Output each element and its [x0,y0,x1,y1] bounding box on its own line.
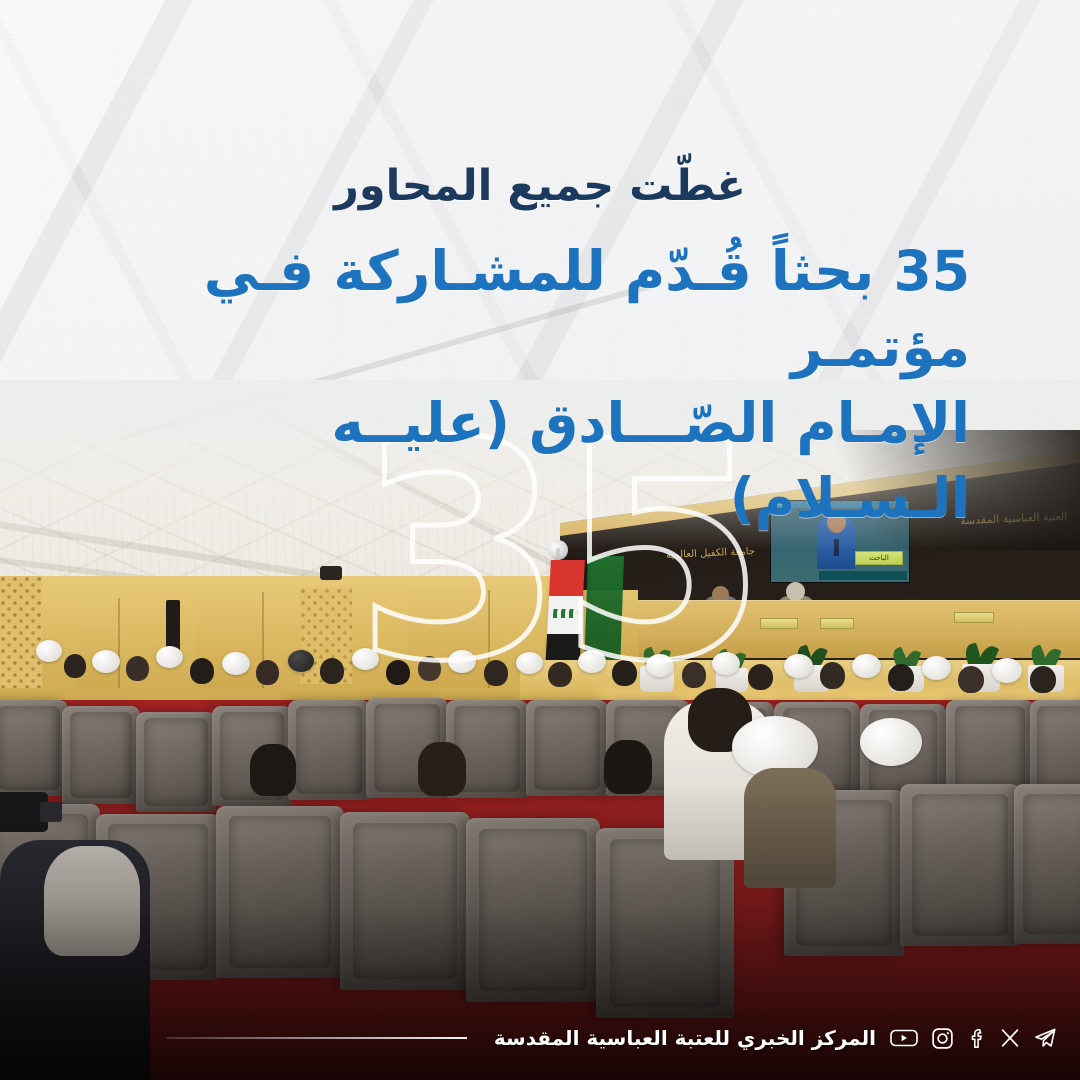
panel-member-head [786,582,805,601]
cleric-turban [784,654,813,678]
audience-head [190,658,214,684]
instagram-icon[interactable] [930,1026,955,1051]
news-card: العتبة العباسية المقدسة جامعة الكفيل الع… [0,0,1080,1080]
cleric-turban [922,656,951,680]
table-nameplate [760,618,798,629]
auditorium-seat [0,700,68,796]
screen-nameplate: الباحث [855,551,903,565]
brand-name: المركز الخبري للعتبة العباسية المقدسة [494,1026,876,1050]
audience-head [958,666,984,693]
cleric-turban [156,646,183,668]
kicker-text: غطّت جميع المحاور [110,160,970,214]
audience-head [126,656,149,681]
footer-brand-group: المركز الخبري للعتبة العباسية المقدسة [167,1025,1058,1051]
cleric-turban [860,718,922,766]
cleric-turban [852,654,881,678]
audience-head [64,654,86,678]
audience-head [820,662,845,689]
table-nameplate [954,612,994,623]
auditorium-seat [340,812,470,990]
footer-bar: المركز الخبري للعتبة العباسية المقدسة [0,1018,1080,1058]
audience-head [604,740,652,794]
screen-speaker-tie [834,539,839,556]
headline-block: غطّت جميع المحاور 35 بحثاً قُـدّم للمشـا… [0,160,1080,537]
auditorium-seat [466,818,600,1002]
auditorium-seat [1014,784,1080,944]
telegram-icon[interactable] [1032,1025,1058,1051]
headline-line-2: الإمـام الصّـــادق (عليــه الـسـلام) [110,386,970,538]
audience-head [888,664,914,691]
table-nameplate [820,618,854,629]
auditorium-seat [216,806,344,978]
audience-head [320,658,344,684]
audience-head [256,660,279,685]
footer-divider-line [167,1037,467,1039]
screen-lower-third [819,571,907,580]
cleric-turban [36,640,62,662]
audience-head [250,744,296,796]
x-icon[interactable] [999,1027,1021,1049]
audience-head [418,742,466,796]
cleric-turban [992,658,1022,683]
headline-text: 35 بحثاً قُـدّم للمشـاركة فـي مؤتمـر الإ… [110,234,970,538]
auditorium-seat [900,784,1020,946]
auditorium-seat [136,712,216,812]
screen-nameplate-label: الباحث [856,552,902,565]
headscarf [44,846,140,956]
headline-line-1: 35 بحثاً قُـدّم للمشـاركة فـي مؤتمـر [110,234,970,386]
cleric-turban [288,650,314,672]
camera-lens [40,802,62,822]
youtube-icon[interactable] [889,1026,919,1050]
social-icons [889,1025,1058,1051]
facebook-icon[interactable] [966,1026,988,1050]
audience-head [1030,666,1056,693]
auditorium-seat [62,706,140,804]
ceiling-speaker [320,566,342,580]
cleric-turban [222,652,250,675]
cleric-turban [92,650,120,673]
cleric-robe [744,768,836,888]
